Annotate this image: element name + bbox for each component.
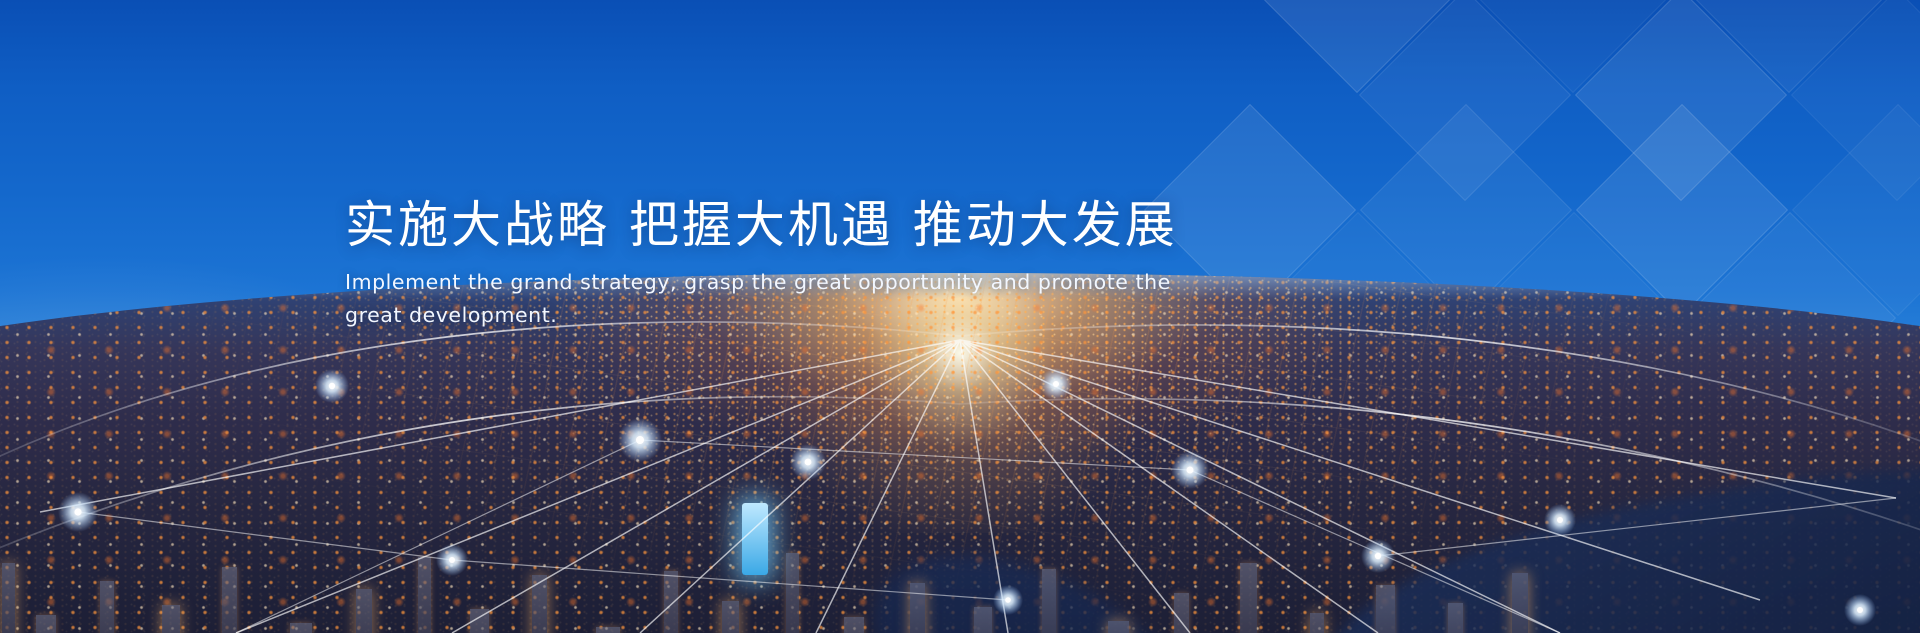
- building: [844, 617, 864, 633]
- building: [974, 607, 992, 633]
- banner-headline: 实施大战略 把握大机遇 推动大发展: [345, 196, 1345, 254]
- building: [162, 605, 180, 633]
- building: [356, 589, 372, 633]
- building: [36, 615, 56, 633]
- building: [1240, 563, 1257, 633]
- building: [722, 601, 739, 633]
- building: [532, 575, 547, 633]
- building: [1376, 585, 1395, 633]
- building: [100, 581, 114, 633]
- landmark-tower: [742, 503, 768, 575]
- building: [418, 557, 431, 633]
- building: [1174, 593, 1189, 633]
- building: [1512, 573, 1528, 633]
- hero-banner: 实施大战略 把握大机遇 推动大发展 Implement the grand st…: [0, 0, 1920, 633]
- building: [910, 583, 925, 633]
- banner-subtitle-line-1: Implement the grand strategy, grasp the …: [345, 270, 1128, 294]
- building: [1310, 613, 1324, 633]
- banner-subtitle: Implement the grand strategy, grasp the …: [345, 266, 1225, 332]
- building: [2, 563, 15, 633]
- banner-copy: 实施大战略 把握大机遇 推动大发展 Implement the grand st…: [345, 196, 1345, 332]
- building: [290, 623, 312, 633]
- building: [1042, 569, 1056, 633]
- building: [786, 553, 799, 633]
- building: [596, 627, 620, 633]
- building: [470, 609, 489, 633]
- building: [1448, 603, 1463, 633]
- building: [664, 571, 678, 633]
- building: [222, 567, 237, 633]
- building: [1108, 621, 1129, 633]
